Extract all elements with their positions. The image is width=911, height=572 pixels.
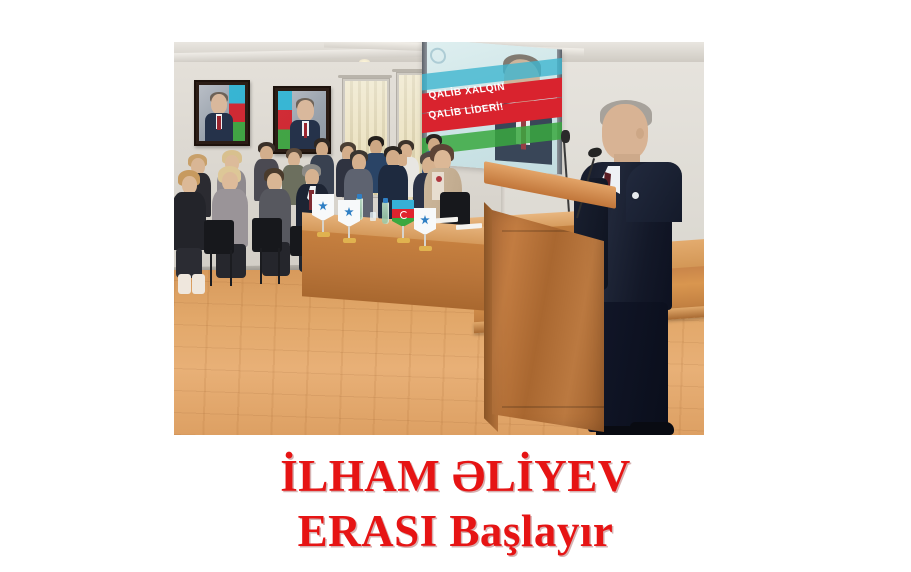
- framed-portrait-left: [194, 80, 250, 146]
- blind-rod: [338, 75, 392, 78]
- event-photo: QALİB XALQIN QALİB LİDERİ!: [174, 42, 704, 435]
- chair: [204, 220, 234, 254]
- bottle-cap: [357, 194, 362, 199]
- podium-trim: [502, 406, 610, 408]
- podium: [484, 174, 616, 435]
- portrait-head: [297, 100, 313, 121]
- speaker-shoe: [630, 422, 674, 435]
- flag-emblem-icon: [344, 207, 354, 217]
- flag-base: [343, 238, 356, 243]
- caption-line-1: İLHAM ƏLİYEV: [280, 449, 631, 504]
- bottle-cap: [383, 198, 388, 203]
- microphone-icon: [561, 130, 570, 143]
- chair-leg: [278, 248, 280, 284]
- drinking-glass: [370, 212, 376, 221]
- flag-base: [397, 238, 410, 243]
- chair-leg: [260, 248, 262, 284]
- caption-line-2: ERASI Başlayır: [298, 504, 614, 559]
- flag-base: [317, 232, 330, 237]
- portrait-tie: [304, 123, 307, 138]
- flag-emblem-icon: [420, 215, 430, 225]
- speaker-lapel-pin: [632, 192, 639, 199]
- crescent-star-icon: [400, 211, 408, 219]
- water-bottle: [382, 202, 389, 224]
- podium-trim: [502, 230, 610, 232]
- portrait-tie: [217, 116, 220, 131]
- podium-front-panel: [492, 210, 604, 432]
- poster-page: QALİB XALQIN QALİB LİDERİ!: [0, 0, 911, 572]
- chair-leg: [230, 250, 232, 286]
- chair-leg: [210, 250, 212, 286]
- flag-base: [419, 246, 432, 251]
- flag-emblem-icon: [318, 201, 328, 211]
- portrait-canvas: [199, 85, 245, 141]
- screen-logo-icon: [430, 47, 446, 64]
- caption-block: İLHAM ƏLİYEV ERASI Başlayır: [0, 436, 911, 572]
- chair: [252, 218, 282, 252]
- speaker-ear: [636, 128, 644, 139]
- portrait-head: [211, 94, 227, 114]
